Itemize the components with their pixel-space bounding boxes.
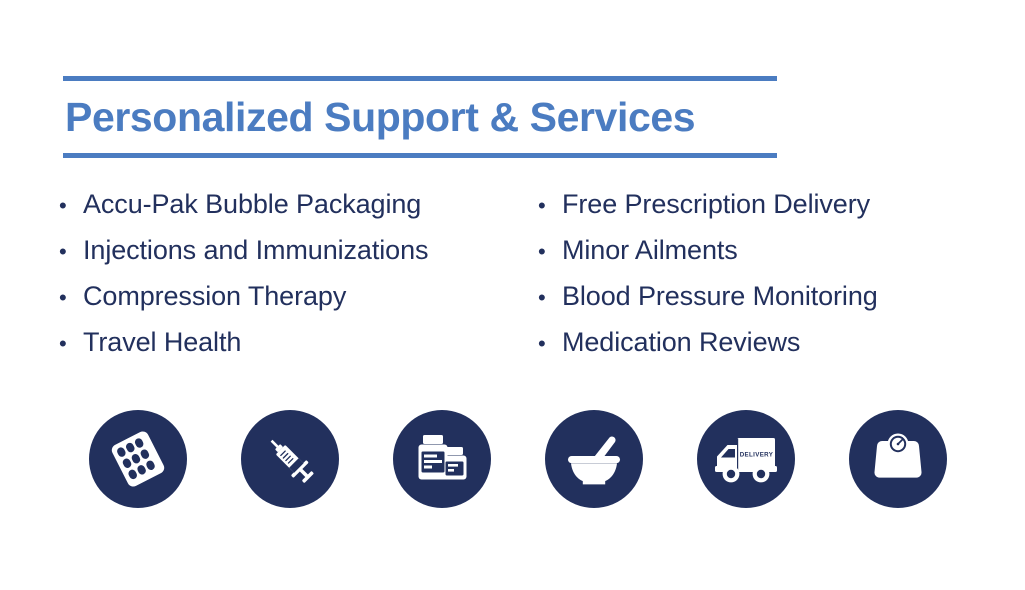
list-item: • Compression Therapy: [55, 273, 525, 319]
bullet-dot-icon: •: [59, 229, 77, 275]
delivery-badge-text: DELIVERY: [740, 452, 774, 459]
service-icon-row: DELIVERY: [89, 410, 955, 510]
bullet-dot-icon: •: [538, 321, 556, 367]
icon-badge-blister-pack: [89, 410, 187, 508]
list-item: • Injections and Immunizations: [55, 227, 525, 273]
list-item: • Accu-Pak Bubble Packaging: [55, 181, 525, 227]
icon-badge-medicine-bottles: [393, 410, 491, 508]
icon-badge-syringe: [241, 410, 339, 508]
poster-canvas: Personalized Support & Services • Accu-P…: [0, 0, 1025, 590]
list-item: • Travel Health: [55, 319, 525, 365]
bullet-dot-icon: •: [538, 183, 556, 229]
icon-badge-delivery-truck: DELIVERY: [697, 410, 795, 508]
mortar-pestle-icon: [562, 428, 626, 490]
service-label: Accu-Pak Bubble Packaging: [83, 181, 421, 227]
service-label: Blood Pressure Monitoring: [562, 273, 878, 319]
bullet-dot-icon: •: [59, 275, 77, 321]
service-label: Minor Ailments: [562, 227, 738, 273]
list-item: • Blood Pressure Monitoring: [538, 273, 1008, 319]
bullet-dot-icon: •: [59, 321, 77, 367]
weight-scale-icon: [867, 429, 929, 489]
delivery-truck-icon: DELIVERY: [712, 430, 780, 488]
list-item: • Free Prescription Delivery: [538, 181, 1008, 227]
services-lists: • Accu-Pak Bubble Packaging • Injections…: [0, 181, 1025, 361]
syringe-icon: [259, 428, 321, 490]
title-block: Personalized Support & Services: [63, 76, 777, 158]
services-column-left: • Accu-Pak Bubble Packaging • Injections…: [55, 181, 525, 365]
service-label: Free Prescription Delivery: [562, 181, 870, 227]
title-rule-bottom: [63, 153, 777, 158]
page-title: Personalized Support & Services: [63, 81, 777, 153]
service-label: Medication Reviews: [562, 319, 800, 365]
medicine-bottles-icon: [410, 428, 474, 490]
list-item: • Medication Reviews: [538, 319, 1008, 365]
blister-pack-icon: [107, 428, 169, 490]
list-item: • Minor Ailments: [538, 227, 1008, 273]
icon-badge-weight-scale: [849, 410, 947, 508]
service-label: Travel Health: [83, 319, 241, 365]
service-label: Injections and Immunizations: [83, 227, 428, 273]
icon-badge-mortar-pestle: [545, 410, 643, 508]
service-label: Compression Therapy: [83, 273, 346, 319]
services-column-right: • Free Prescription Delivery • Minor Ail…: [538, 181, 1008, 365]
bullet-dot-icon: •: [538, 229, 556, 275]
bullet-dot-icon: •: [538, 275, 556, 321]
bullet-dot-icon: •: [59, 183, 77, 229]
